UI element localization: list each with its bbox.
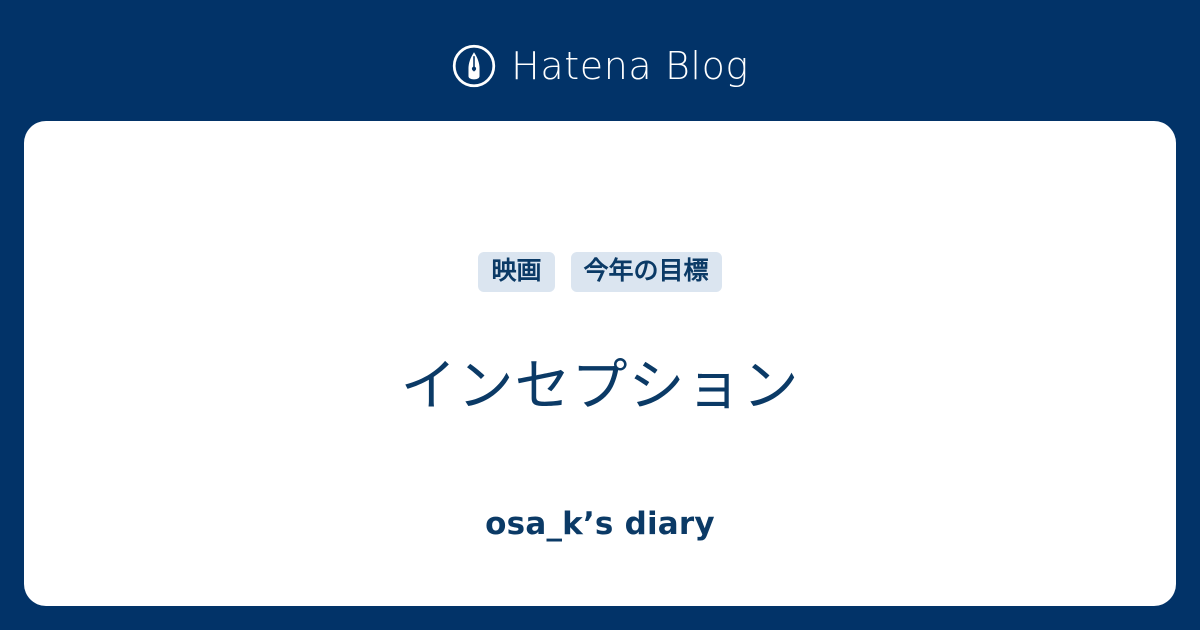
tag-item[interactable]: 今年の目標 <box>571 252 722 292</box>
hatena-pen-nib-icon <box>451 43 497 89</box>
ogp-card: Hatena Blog 映画 今年の目標 インセプション osa_k’s dia… <box>0 0 1200 630</box>
blog-title[interactable]: osa_k’s diary <box>24 507 1176 541</box>
service-name: Hatena Blog <box>511 47 749 85</box>
tag-item[interactable]: 映画 <box>478 252 554 292</box>
entry-title: インセプション <box>24 355 1176 419</box>
entry-card: 映画 今年の目標 インセプション osa_k’s diary <box>24 121 1176 606</box>
site-header: Hatena Blog <box>0 36 1200 96</box>
tag-list: 映画 今年の目標 <box>24 252 1176 292</box>
